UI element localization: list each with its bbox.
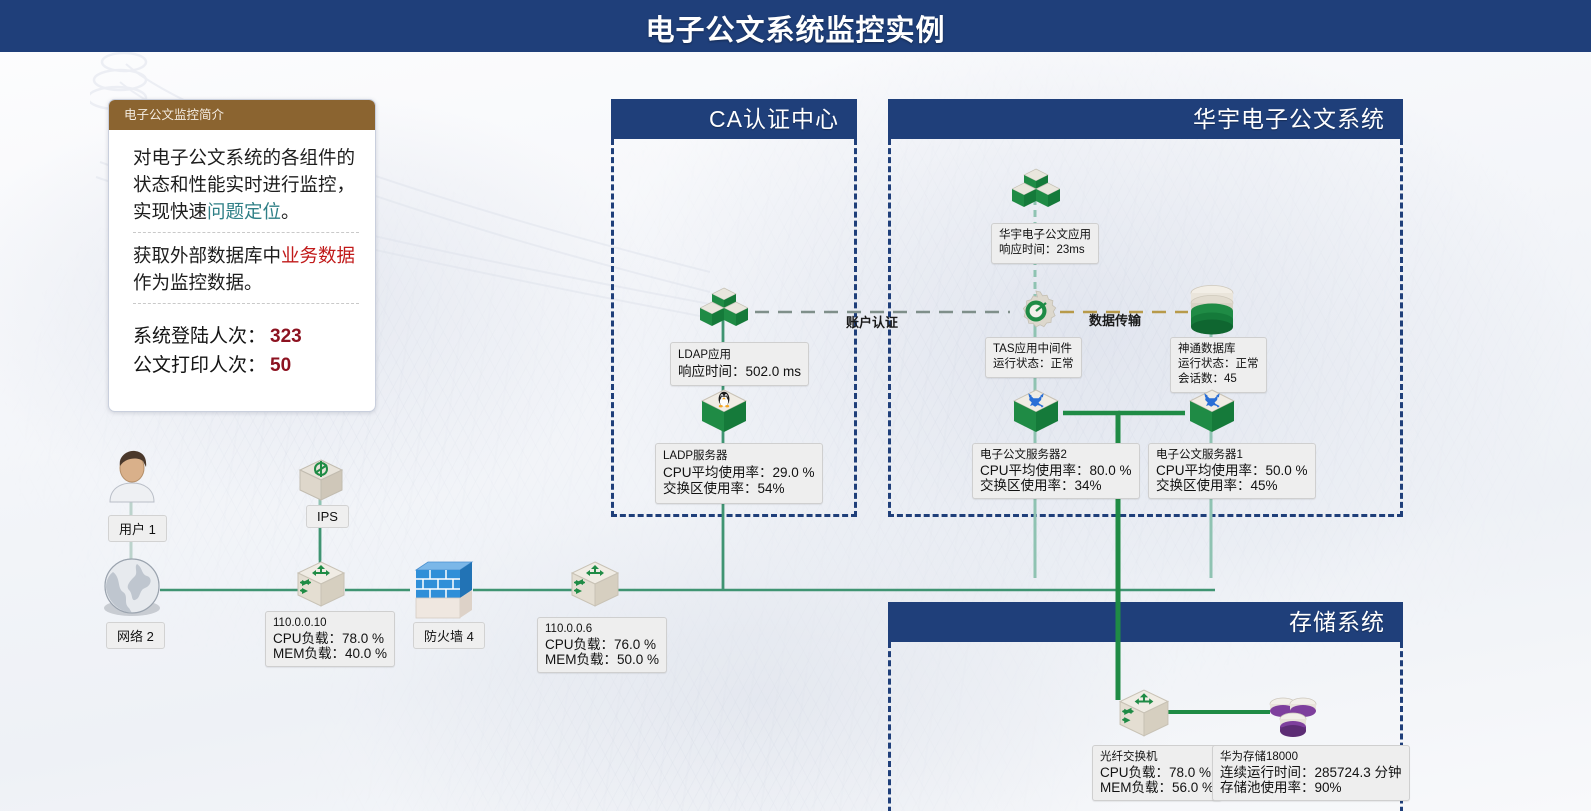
node-ips[interactable] (298, 458, 344, 509)
hy-app-line-0: 华宇电子公文应用 (999, 228, 1091, 243)
node-switch-110-0-0-10[interactable] (296, 560, 346, 615)
switch6-line-1: CPU负载：76.0 % (545, 637, 659, 652)
cubes-icon (700, 287, 748, 329)
srv2-line-1: CPU平均使用率：80.0 % (980, 463, 1132, 478)
db-line-0: 神通数据库 (1178, 342, 1259, 357)
node-firewall4-label: 防火墙 4 (413, 622, 485, 649)
node-edoc-server1-label: 电子公文服务器1 CPU平均使用率：50.0 % 交换区使用率：45% (1148, 443, 1316, 499)
database-icon (1189, 284, 1235, 336)
node-switch-110-0-0-10-label: 110.0.0.10 CPU负载：78.0 % MEM负载：40.0 % (265, 611, 395, 667)
ldap-app-line-1: 响应时间：502.0 ms (678, 364, 801, 381)
hw-line-1: 连续运行时间：285724.3 分钟 (1220, 765, 1402, 780)
node-huayu-app[interactable] (1012, 168, 1060, 215)
linux-box-icon (700, 388, 748, 436)
globe-icon (101, 556, 163, 618)
node-user1[interactable] (102, 448, 162, 508)
switch6-line-2: MEM负载：50.0 % (545, 652, 659, 667)
tas-line-0: TAS应用中间件 (993, 342, 1074, 357)
srv2-line-0: 电子公文服务器2 (980, 448, 1132, 463)
topology-links (0, 0, 1591, 811)
node-network2-label: 网络 2 (106, 622, 165, 649)
bsd-box-icon (1188, 388, 1236, 436)
node-edoc-server1[interactable] (1188, 388, 1236, 441)
gear-icon (1012, 289, 1060, 337)
node-tas-middleware-label: TAS应用中间件 运行状态：正常 (985, 337, 1082, 378)
person-icon (102, 448, 162, 503)
node-network2[interactable] (101, 556, 163, 623)
edge-label-data-transfer: 数据传输 (1089, 310, 1141, 329)
ldap-srv-line-1: CPU平均使用率：29.0 % (663, 465, 815, 482)
db-line-2: 会话数：45 (1178, 372, 1259, 387)
bsd-box-icon (1012, 388, 1060, 436)
switch-icon (1118, 688, 1170, 740)
ldap-srv-line-0: LADP服务器 (663, 448, 815, 465)
node-shentong-database[interactable] (1189, 284, 1235, 341)
srv1-line-1: CPU平均使用率：50.0 % (1156, 463, 1308, 478)
node-ips-label: IPS (306, 505, 349, 528)
node-switch-110-0-0-6-label: 110.0.0.6 CPU负载：76.0 % MEM负载：50.0 % (537, 617, 667, 673)
node-firewall4[interactable] (410, 552, 474, 629)
hw-line-0: 华为存储18000 (1220, 750, 1402, 765)
ldap-srv-line-2: 交换区使用率：54% (663, 481, 815, 498)
hw-line-2: 存储池使用率：90% (1220, 780, 1402, 795)
switch10-line-1: CPU负载：78.0 % (273, 631, 387, 646)
fcsw-line-2: MEM负载：56.0 % (1100, 780, 1214, 795)
monitoring-topology-page: 电子公文系统监控实例 电子公文监控简介 对电子公文系统的各组件的状态和性能实时进… (0, 0, 1591, 811)
switch6-line-0: 110.0.0.6 (545, 622, 659, 637)
ldap-app-line-0: LDAP应用 (678, 347, 801, 364)
cubes-icon (1012, 168, 1060, 210)
node-fiber-switch[interactable] (1118, 688, 1170, 745)
hy-app-line-1: 响应时间：23ms (999, 243, 1091, 258)
fcsw-line-1: CPU负载：78.0 % (1100, 765, 1214, 780)
node-tas-middleware[interactable] (1012, 289, 1060, 342)
srv2-line-2: 交换区使用率：34% (980, 478, 1132, 493)
srv1-line-0: 电子公文服务器1 (1156, 448, 1308, 463)
edge-label-account-auth: 账户认证 (846, 312, 898, 331)
node-ldap-server-label: LADP服务器 CPU平均使用率：29.0 % 交换区使用率：54% (655, 443, 823, 504)
node-ldap-app-label: LDAP应用 响应时间：502.0 ms (670, 342, 809, 386)
node-fiber-switch-label: 光纤交换机 CPU负载：78.0 % MEM负载：56.0 % (1092, 745, 1222, 801)
node-shentong-database-label: 神通数据库 运行状态：正常 会话数：45 (1170, 337, 1267, 393)
node-ldap-app[interactable] (700, 287, 748, 334)
storage-icon (1265, 690, 1321, 740)
tas-line-1: 运行状态：正常 (993, 357, 1074, 372)
srv1-line-2: 交换区使用率：45% (1156, 478, 1308, 493)
ips-box-icon (298, 458, 344, 504)
switch-icon (296, 560, 346, 610)
node-ldap-server[interactable] (700, 388, 748, 441)
db-line-1: 运行状态：正常 (1178, 357, 1259, 372)
node-huayu-app-label: 华宇电子公文应用 响应时间：23ms (991, 223, 1099, 264)
node-edoc-server2[interactable] (1012, 388, 1060, 441)
switch10-line-2: MEM负载：40.0 % (273, 646, 387, 661)
node-user1-label: 用户 1 (108, 515, 167, 542)
switch-icon (570, 560, 620, 610)
node-edoc-server2-label: 电子公文服务器2 CPU平均使用率：80.0 % 交换区使用率：34% (972, 443, 1140, 499)
node-huawei-storage-label: 华为存储18000 连续运行时间：285724.3 分钟 存储池使用率：90% (1212, 745, 1410, 801)
firewall-icon (410, 552, 474, 624)
node-switch-110-0-0-6[interactable] (570, 560, 620, 615)
node-huawei-storage[interactable] (1265, 690, 1321, 745)
fcsw-line-0: 光纤交换机 (1100, 750, 1214, 765)
switch10-line-0: 110.0.0.10 (273, 616, 387, 631)
